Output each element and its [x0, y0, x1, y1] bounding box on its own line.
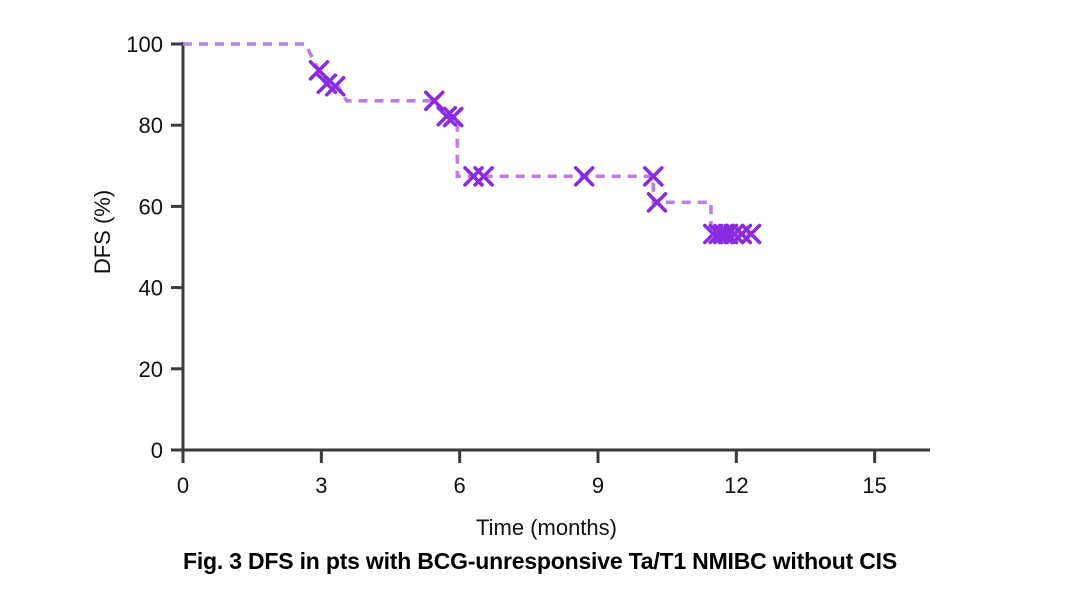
censor-mark	[649, 194, 666, 211]
x-tick-label-15: 15	[862, 473, 886, 498]
y-tick-label-80: 80	[139, 113, 163, 138]
x-tick-label-12: 12	[724, 473, 748, 498]
y-tick-label-20: 20	[139, 357, 163, 382]
censor-mark	[743, 226, 760, 243]
x-axis-title: Time (months)	[476, 515, 617, 540]
figure-caption: Fig. 3 DFS in pts with BCG-unresponsive …	[0, 548, 1080, 575]
y-tick-label-0: 0	[151, 438, 163, 463]
x-tick-label-6: 6	[454, 473, 466, 498]
y-tick-label-60: 60	[139, 194, 163, 219]
x-tick-label-9: 9	[592, 473, 604, 498]
y-axis-title: DFS (%)	[90, 190, 115, 274]
x-tick-label-0: 0	[177, 473, 189, 498]
survival-curve	[183, 44, 752, 234]
y-tick-label-40: 40	[139, 276, 163, 301]
kaplan-meier-chart: 02040608010003691215Time (months)DFS (%)	[0, 0, 1080, 548]
censor-mark	[576, 168, 593, 185]
x-tick-label-3: 3	[315, 473, 327, 498]
figure-container: 02040608010003691215Time (months)DFS (%)…	[0, 0, 1080, 611]
y-tick-label-100: 100	[126, 32, 163, 57]
